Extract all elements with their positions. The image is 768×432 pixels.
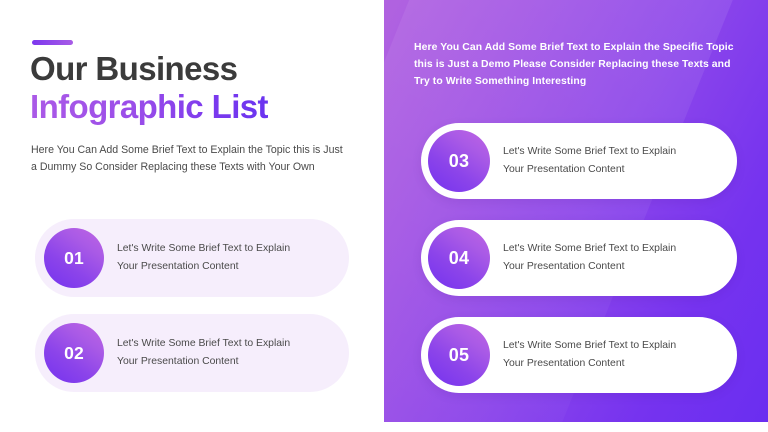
item-text-line1: Let's Write Some Brief Text to Explain bbox=[503, 337, 721, 355]
item-text-02: Let's Write Some Brief Text to Explain Y… bbox=[117, 335, 335, 371]
item-text-line1: Let's Write Some Brief Text to Explain bbox=[117, 335, 335, 353]
item-text-04: Let's Write Some Brief Text to Explain Y… bbox=[503, 240, 721, 276]
item-text-05: Let's Write Some Brief Text to Explain Y… bbox=[503, 337, 721, 373]
title-accent-bar bbox=[32, 40, 73, 45]
list-item-04[interactable]: 04 Let's Write Some Brief Text to Explai… bbox=[421, 220, 737, 296]
item-text-line2: Your Presentation Content bbox=[117, 353, 335, 371]
page-title-line-one: Our Business bbox=[30, 50, 237, 88]
item-number-badge-02: 02 bbox=[44, 323, 104, 383]
item-number-badge-03: 03 bbox=[428, 130, 490, 192]
item-text-line2: Your Presentation Content bbox=[117, 258, 335, 276]
item-text-line1: Let's Write Some Brief Text to Explain bbox=[503, 143, 721, 161]
item-text-01: Let's Write Some Brief Text to Explain Y… bbox=[117, 240, 335, 276]
item-text-line2: Your Presentation Content bbox=[503, 258, 721, 276]
list-item-05[interactable]: 05 Let's Write Some Brief Text to Explai… bbox=[421, 317, 737, 393]
right-intro-paragraph: Here You Can Add Some Brief Text to Expl… bbox=[414, 40, 744, 91]
item-text-line2: Your Presentation Content bbox=[503, 161, 721, 179]
item-text-03: Let's Write Some Brief Text to Explain Y… bbox=[503, 143, 721, 179]
list-item-02[interactable]: 02 Let's Write Some Brief Text to Explai… bbox=[35, 314, 349, 392]
list-item-03[interactable]: 03 Let's Write Some Brief Text to Explai… bbox=[421, 123, 737, 199]
left-intro-paragraph: Here You Can Add Some Brief Text to Expl… bbox=[31, 142, 343, 176]
item-text-line2: Your Presentation Content bbox=[503, 355, 721, 373]
item-text-line1: Let's Write Some Brief Text to Explain bbox=[117, 240, 335, 258]
list-item-01[interactable]: 01 Let's Write Some Brief Text to Explai… bbox=[35, 219, 349, 297]
page-title-line-two: Infographic List bbox=[30, 88, 268, 126]
item-number-badge-05: 05 bbox=[428, 324, 490, 386]
infographic-slide: Here You Can Add Some Brief Text to Expl… bbox=[0, 0, 768, 432]
item-number-badge-01: 01 bbox=[44, 228, 104, 288]
item-number-badge-04: 04 bbox=[428, 227, 490, 289]
item-text-line1: Let's Write Some Brief Text to Explain bbox=[503, 240, 721, 258]
